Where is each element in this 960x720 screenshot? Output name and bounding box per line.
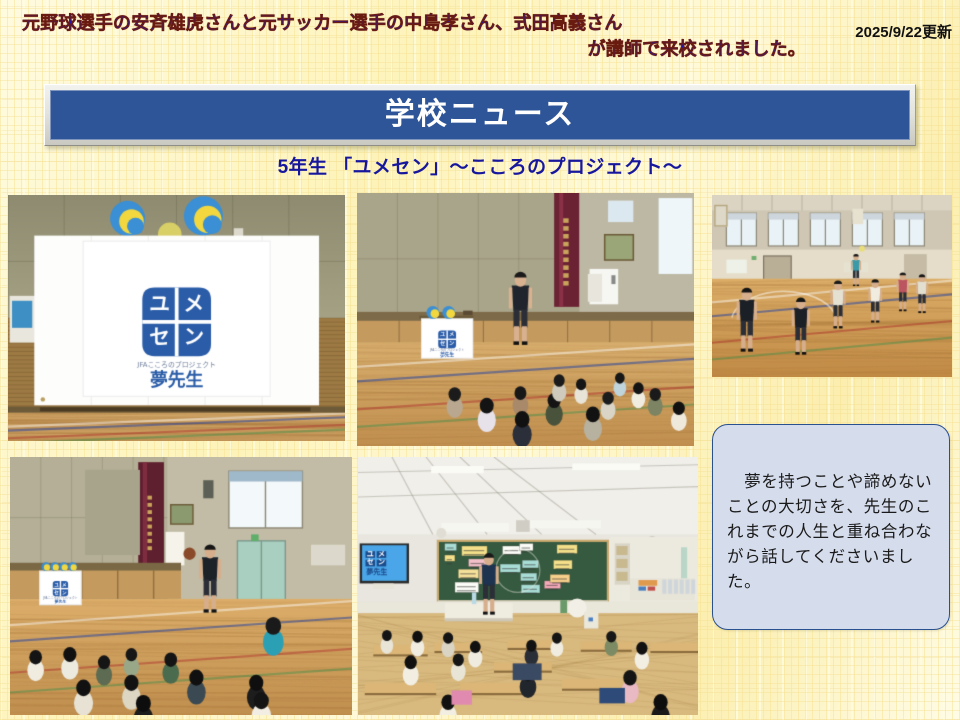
comment-callout-box: 夢を持つことや諦めないことの大切さを、先生のこれまでの人生と重ね合わながら話して…	[712, 424, 950, 630]
photo-gym-activity	[712, 195, 952, 377]
page-subtitle: 5年生 「ユメセン」～こころのプロジェクト～	[0, 152, 960, 179]
school-news-banner: 学校ニュース	[44, 84, 916, 146]
banner-title: 学校ニュース	[385, 100, 576, 130]
photo-classroom-talk	[358, 457, 698, 715]
photo-gym-throw	[10, 457, 352, 715]
photo-yumesen-banner	[8, 195, 345, 441]
banner-inner: 学校ニュース	[50, 90, 910, 140]
slide-page: 元野球選手の安斉雄虎さんと元サッカー選手の中島孝さん、式田高義さん が講師で来校…	[0, 0, 960, 720]
headline-line-2: が講師で来校されました。	[22, 36, 812, 62]
page-headline: 元野球選手の安斉雄虎さんと元サッカー選手の中島孝さん、式田高義さん が講師で来校…	[22, 10, 812, 62]
update-date: 2025/9/22更新	[855, 21, 952, 42]
headline-line-1: 元野球選手の安斉雄虎さんと元サッカー選手の中島孝さん、式田高義さん	[22, 10, 812, 36]
photo-gym-talk	[357, 193, 694, 446]
comment-text: 夢を持つことや諦めないことの大切さを、先生のこれまでの人生と重ね合わながら話して…	[727, 469, 935, 594]
